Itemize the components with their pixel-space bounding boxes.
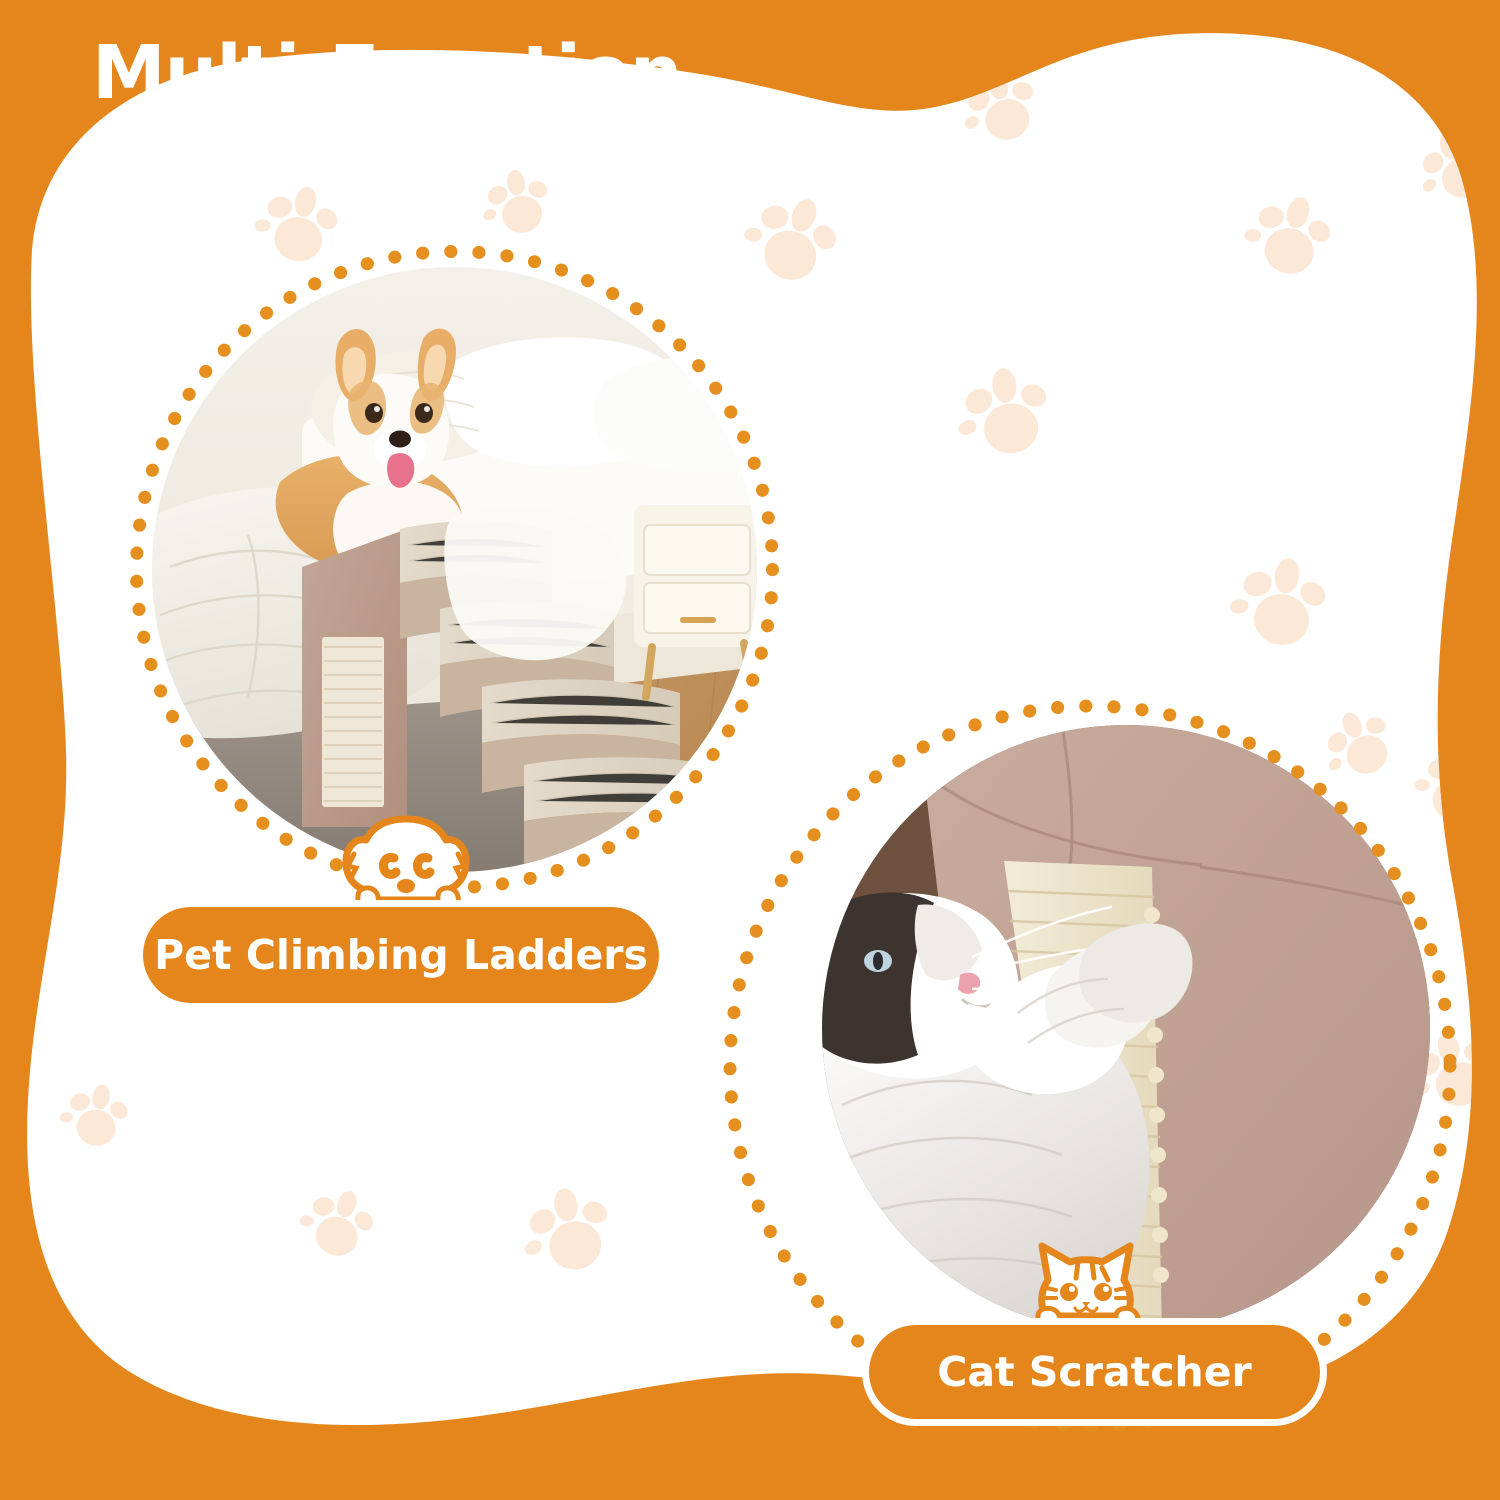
- page-title: Multi-Function: [92, 36, 682, 110]
- badge-cat-scratcher[interactable]: Cat Scratcher: [862, 1318, 1327, 1426]
- badge-label-cat-scratcher: Cat Scratcher: [937, 1348, 1251, 1396]
- badge-pet-climbing-ladders[interactable]: Pet Climbing Ladders: [136, 900, 666, 1010]
- infographic-canvas: Multi-Function: [0, 0, 1500, 1500]
- dotted-ring-dog: [118, 233, 791, 906]
- badge-label-pet-climbing-ladders: Pet Climbing Ladders: [154, 931, 648, 979]
